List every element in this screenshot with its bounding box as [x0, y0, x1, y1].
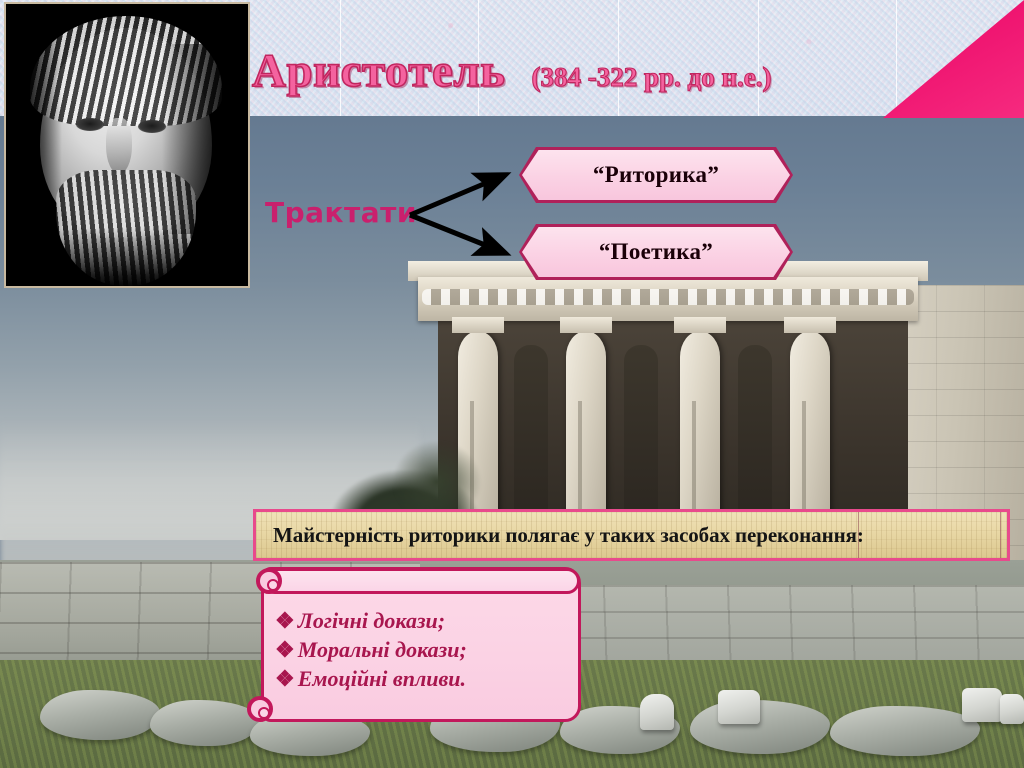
scroll-curl-bottom-left-icon: [247, 696, 273, 722]
scroll-curl-top-left-icon: [256, 568, 282, 594]
title-dates: (384 -322 рр. до н.е.): [532, 62, 772, 93]
presentation-slide: Аристотель (384 -322 рр. до н.е.) Тракта…: [0, 0, 1024, 768]
caryatid-statue: [790, 331, 830, 537]
diamond-bullet-icon: ❖: [275, 637, 295, 662]
diamond-bullet-icon: ❖: [275, 608, 295, 633]
list-item: ❖Емоційні впливи.: [275, 664, 575, 693]
bust-shadow-right: [162, 44, 228, 234]
aristotle-portrait: [4, 2, 250, 288]
bust-nose: [106, 118, 132, 174]
caryatid-statue: [680, 331, 720, 537]
bar-guide-line: [858, 512, 859, 558]
bar-guide-line: [1000, 512, 1001, 558]
scroll-bullet-list: ❖Логічні докази; ❖Моральні докази; ❖Емоц…: [275, 606, 575, 693]
rubble-stone: [690, 700, 830, 754]
list-item-label: Емоційні впливи.: [298, 666, 466, 691]
scroll-top-band: [262, 568, 580, 594]
marble-fragment: [640, 694, 674, 730]
diamond-bullet-icon: ❖: [275, 666, 295, 691]
marble-fragment: [962, 688, 1002, 722]
bust-illustration: [22, 14, 228, 288]
statement-bar-inner: Майстерність риторики полягає у таких за…: [256, 512, 1007, 558]
statement-bar-text: Майстерність риторики полягає у таких за…: [273, 523, 864, 548]
temple-bead-moulding: [422, 289, 914, 305]
list-item: ❖Логічні докази;: [275, 606, 575, 635]
bust-eye-left: [76, 118, 104, 131]
statement-bar: Майстерність риторики полягає у таких за…: [253, 509, 1010, 561]
diagram-node-poetics[interactable]: “Поетика”: [522, 227, 790, 277]
porch-interior-shadow: [438, 321, 908, 536]
marble-fragment: [718, 690, 760, 724]
caryatid-statue: [566, 331, 606, 537]
marble-fragment: [1000, 694, 1024, 724]
rubble-stone: [830, 706, 980, 756]
slide-title-group: Аристотель (384 -322 рр. до н.е.): [252, 44, 912, 106]
diagram-node-rhetoric[interactable]: “Риторика”: [522, 150, 790, 200]
list-item-label: Моральні докази;: [298, 637, 467, 662]
bust-shadow-bottom: [22, 228, 228, 288]
list-item-label: Логічні докази;: [298, 608, 445, 633]
diagram-source-label: Трактати: [265, 196, 417, 229]
rubble-stone: [150, 700, 260, 746]
list-item: ❖Моральні докази;: [275, 635, 575, 664]
page-title: Аристотель: [252, 44, 506, 98]
foliage-shrub: [392, 440, 482, 510]
scroll-banner: ❖Логічні докази; ❖Моральні докази; ❖Емоц…: [245, 562, 590, 730]
rubble-stone: [40, 690, 160, 740]
